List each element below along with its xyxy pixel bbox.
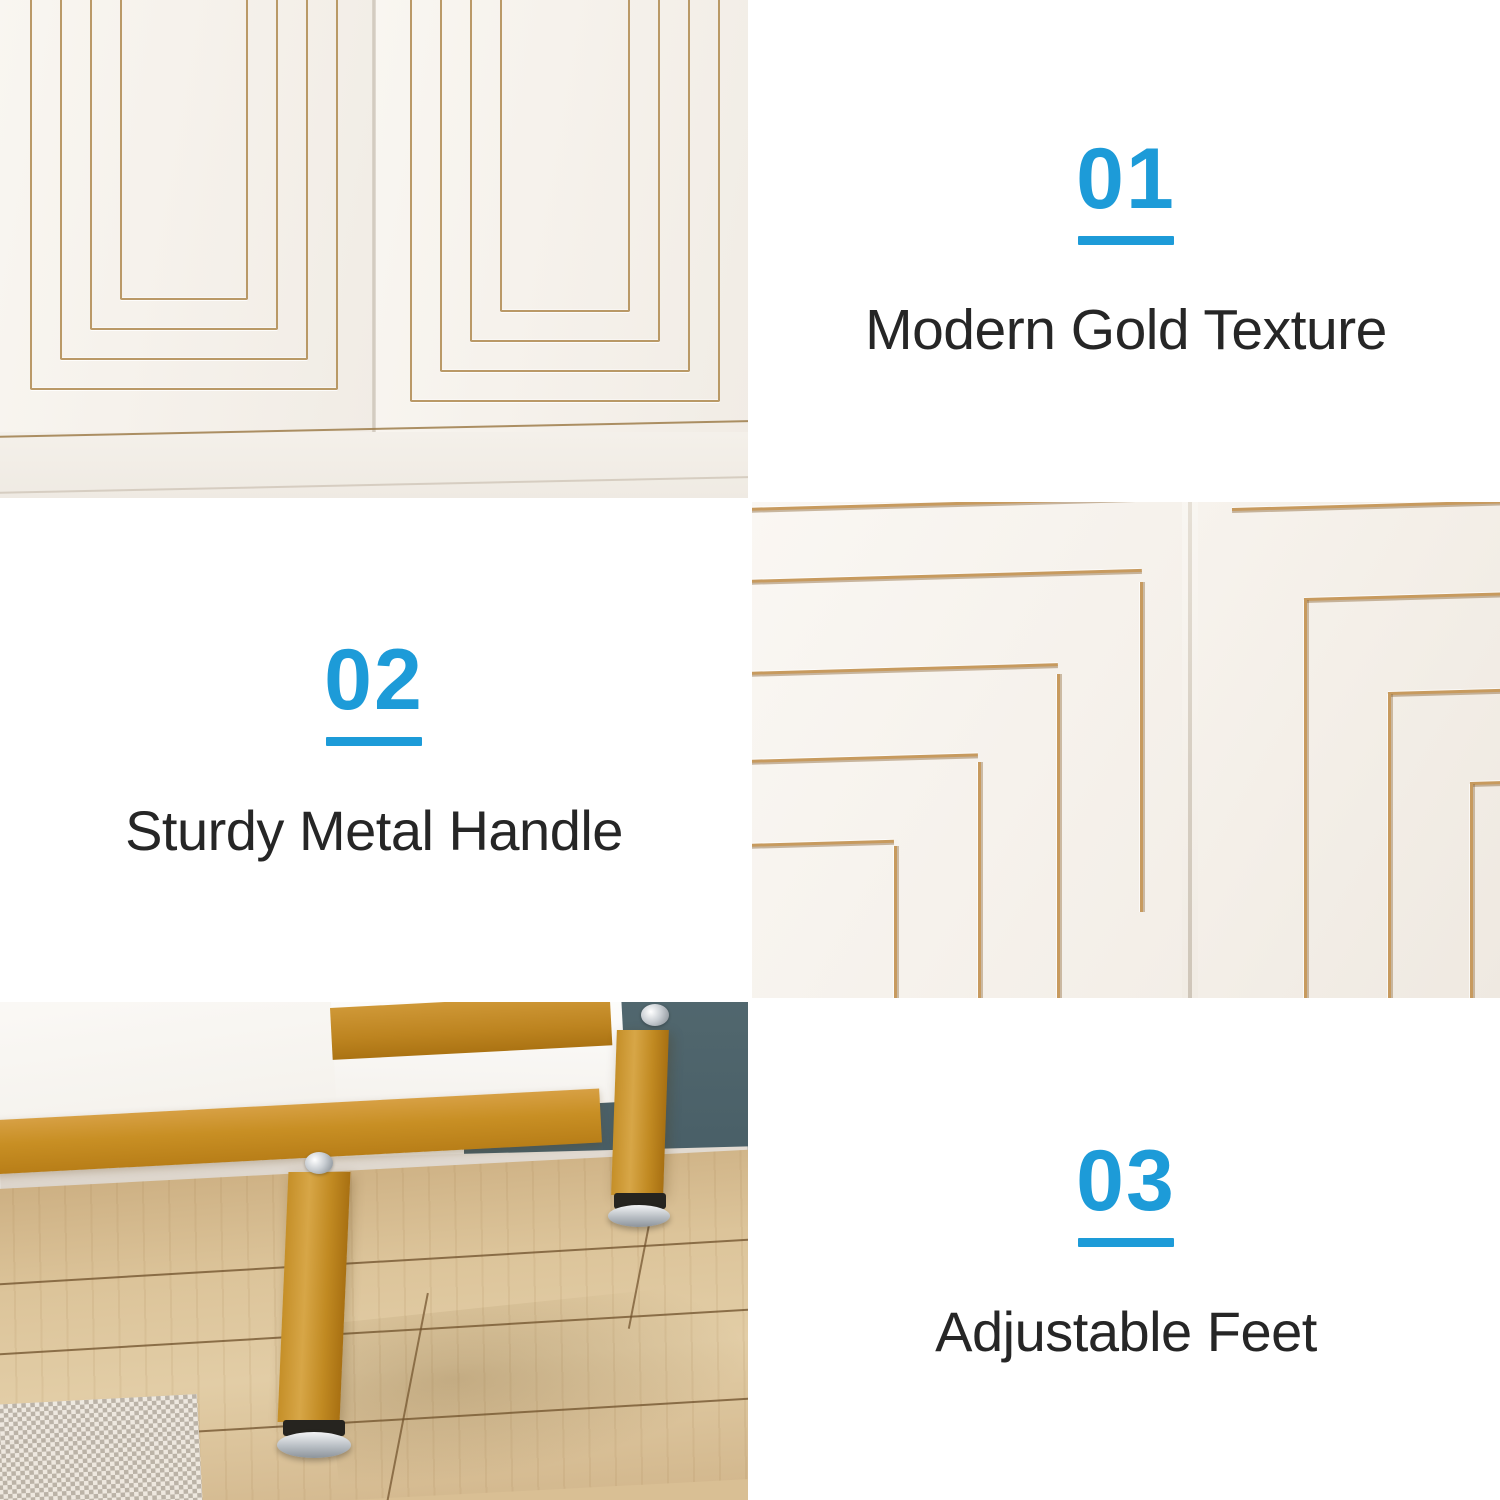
photo-cabinet-gold-legs-adjustable-feet <box>0 1002 748 1500</box>
gold-edge-line <box>1388 694 1391 998</box>
feature-number-underline <box>1078 1238 1174 1247</box>
gold-edge-line <box>894 846 897 998</box>
feature-card-01: 01 Modern Gold Texture <box>752 0 1500 498</box>
photo-cabinet-gold-bar-handles <box>752 502 1500 998</box>
feature-caption: Modern Gold Texture <box>865 297 1387 363</box>
gold-edge-line <box>1470 784 1473 998</box>
cabinet-doors-image <box>0 0 748 498</box>
cabinet-legs-image <box>0 1002 748 1500</box>
feature-card-03: 03 Adjustable Feet <box>752 1002 1500 1500</box>
door-seam <box>372 0 376 472</box>
photo-cabinet-doors-gold-grooves <box>0 0 748 498</box>
door-seam <box>1188 502 1192 998</box>
feature-number-underline <box>1078 236 1174 245</box>
feature-collage: 01 Modern Gold Texture 02 Sturdy Metal H… <box>0 0 1500 1500</box>
cabinet-door-left <box>0 0 372 464</box>
feature-number: 03 <box>1076 1138 1176 1224</box>
gold-edge-line <box>1057 674 1060 998</box>
feature-number-block: 01 <box>1076 136 1176 245</box>
feature-number: 02 <box>324 637 424 723</box>
gold-groove <box>120 0 248 300</box>
cabinet-leg-back <box>611 1030 669 1195</box>
feature-number-underline <box>326 737 422 746</box>
feature-number-block: 02 <box>324 637 424 746</box>
screw-icon <box>641 1004 669 1026</box>
gold-edge-line <box>978 762 981 998</box>
feature-number-block: 03 <box>1076 1138 1176 1247</box>
gold-edge-line <box>1304 600 1307 998</box>
gold-edge-line <box>1140 582 1143 912</box>
feature-card-02: 02 Sturdy Metal Handle <box>0 502 748 998</box>
cabinet-door-right <box>1198 502 1500 998</box>
cabinet-leg-front <box>278 1172 351 1422</box>
adjustable-foot-pad <box>277 1432 351 1458</box>
feature-number: 01 <box>1076 136 1176 222</box>
feature-caption: Adjustable Feet <box>935 1299 1317 1364</box>
cabinet-bottom-rail <box>0 432 748 498</box>
cabinet-handles-image <box>752 502 1500 998</box>
area-rug <box>0 1394 203 1500</box>
gold-groove <box>500 0 630 312</box>
cabinet-door-right <box>376 0 748 464</box>
screw-icon <box>305 1152 333 1174</box>
feature-caption: Sturdy Metal Handle <box>125 798 623 863</box>
adjustable-foot-pad <box>608 1205 670 1227</box>
